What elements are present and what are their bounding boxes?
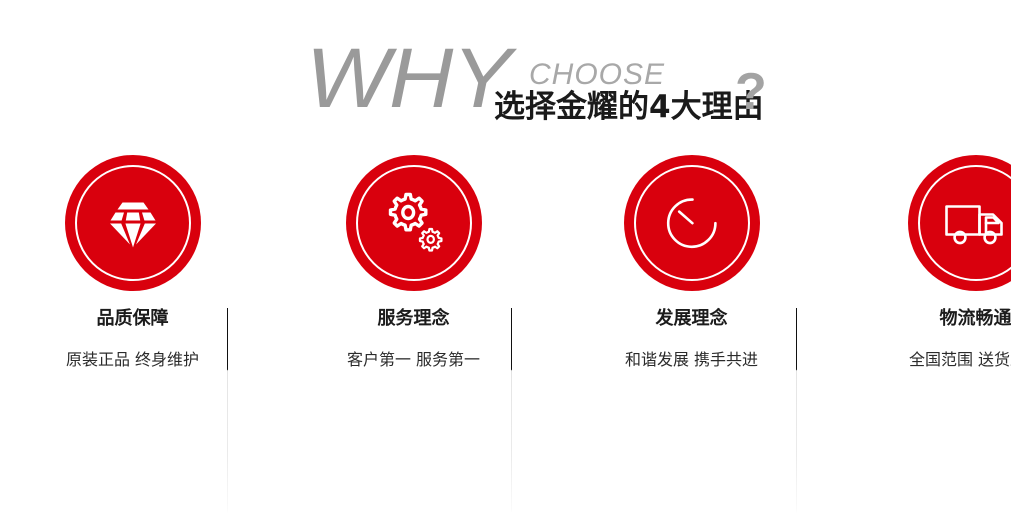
feature-icon-badge (624, 155, 760, 291)
gears-icon (346, 155, 482, 291)
feature-icon-badge (346, 155, 482, 291)
truck-icon (908, 155, 1011, 291)
headline-chinese: 选择金耀的4大理由 (494, 92, 764, 123)
feature-title: 物流畅通 (849, 308, 1011, 330)
feature-subtitle: 全国范围 送货上门 (849, 350, 1011, 370)
feature-subtitle: 和谐发展 携手共进 (565, 350, 818, 370)
feature-title: 服务理念 (287, 308, 540, 330)
feature-title: 品质保障 (6, 308, 259, 330)
diamond-icon (65, 155, 201, 291)
question-mark-icon: ? (735, 66, 767, 118)
feature-row: 品质保障 原装正品 终身维护 服务理念 客户第一 服务第一 (0, 140, 1011, 434)
headline-why: WHY (306, 36, 511, 120)
feature-subtitle: 客户第一 服务第一 (287, 350, 540, 370)
stopwatch-icon (624, 155, 760, 291)
feature-icon-badge (65, 155, 201, 291)
feature-subtitle: 原装正品 终身维护 (6, 350, 259, 370)
feature-icon-badge (908, 155, 1011, 291)
feature-item-quality[interactable]: 品质保障 原装正品 终身维护 (6, 140, 259, 434)
feature-item-service[interactable]: 服务理念 客户第一 服务第一 (287, 140, 540, 434)
feature-item-logistics[interactable]: 物流畅通 全国范围 送货上门 (849, 140, 1011, 434)
page-header: WHY CHOOSE 选择金耀的4大理由 ? (0, 0, 1011, 140)
headline-choose: CHOOSE (529, 60, 665, 90)
feature-title: 发展理念 (565, 308, 818, 330)
feature-item-development[interactable]: 发展理念 和谐发展 携手共进 (565, 140, 818, 434)
